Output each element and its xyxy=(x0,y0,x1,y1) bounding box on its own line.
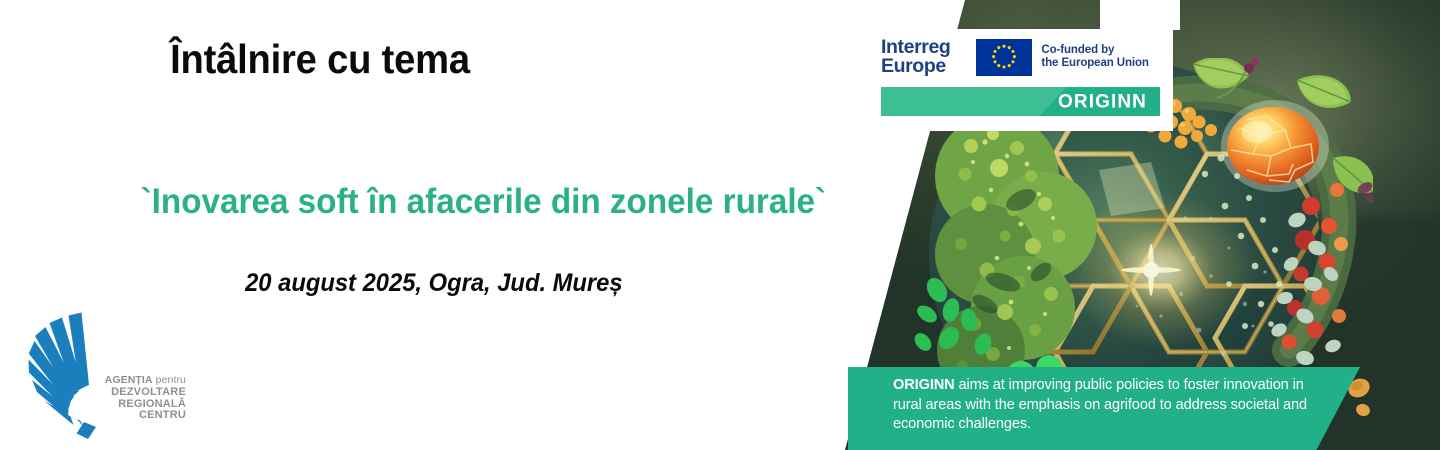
event-date-location: 20 august 2025, Ogra, Jud. Mureș xyxy=(0,269,623,298)
originn-project-label: ORIGINN xyxy=(1058,92,1147,111)
info-banner-text: ORIGINN aims at improving public policie… xyxy=(893,376,1333,435)
info-banner-body: aims at improving public policies to fos… xyxy=(893,377,1307,432)
adr-logo-line-4: CENTRU xyxy=(78,410,186,422)
event-banner-slide: Întâlnire cu tema `Inovarea soft în afac… xyxy=(0,0,1440,450)
text-column: Întâlnire cu tema `Inovarea soft în afac… xyxy=(0,0,845,450)
artwork-panel: Interreg Europe xyxy=(845,0,1440,450)
interreg-logo-card: Interreg Europe xyxy=(855,29,1173,131)
adr-centru-logo-text: AGENȚIA pentru DEZVOLTARE REGIONALĂ CENT… xyxy=(78,375,186,422)
eu-funding-line-1: Co-funded by xyxy=(1041,44,1148,58)
eu-stars-icon xyxy=(976,39,1032,76)
interreg-logo-card-wedge xyxy=(1100,0,1180,30)
interreg-europe-logo: Interreg Europe xyxy=(881,38,950,76)
eu-funding-line-2: the European Union xyxy=(1041,57,1148,71)
info-banner-bold-lead: ORIGINN xyxy=(893,377,955,393)
interreg-logo-line-2: Europe xyxy=(881,57,950,76)
adr-logo-line-1-strong: AGENȚIA xyxy=(105,374,153,386)
adr-logo-line-2: DEZVOLTARE xyxy=(78,387,186,399)
page-title: Întâlnire cu tema xyxy=(22,36,617,83)
eu-funding-label: Co-funded by the European Union xyxy=(1041,44,1148,71)
event-theme-subtitle: `Inovarea soft în afacerile din zonele r… xyxy=(0,182,950,222)
interreg-eu-row: Interreg Europe xyxy=(881,38,1149,76)
adr-logo-line-1-light: pentru xyxy=(156,374,186,386)
eu-flag-icon xyxy=(976,39,1032,76)
originn-project-bar: ORIGINN xyxy=(881,87,1160,116)
